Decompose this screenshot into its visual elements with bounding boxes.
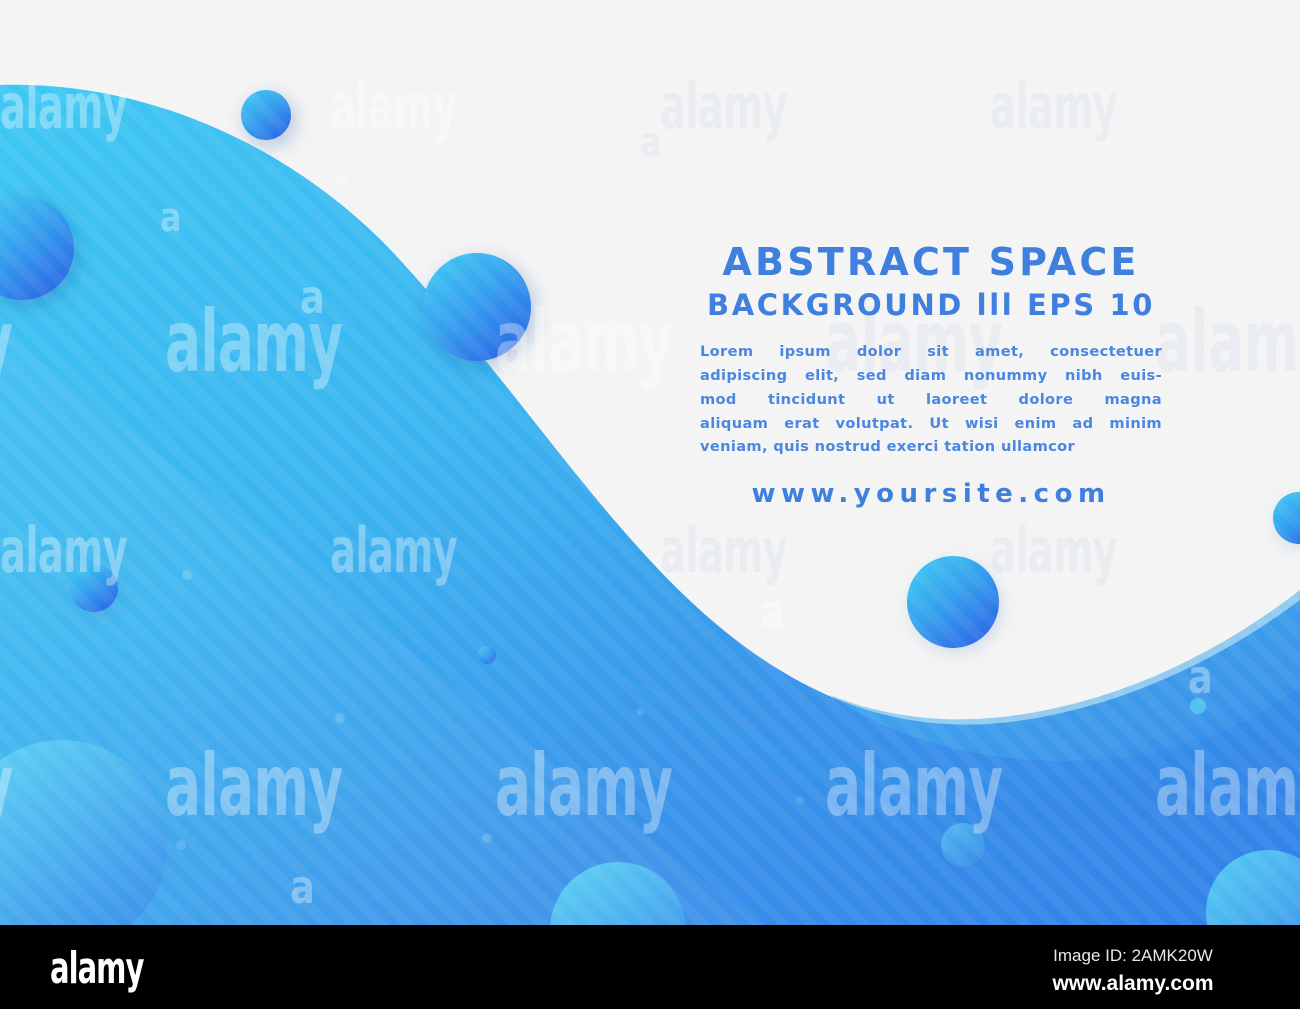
alamy-footer-bar: alamy Image ID: 2AMK20W www.alamy.com <box>0 925 1300 1009</box>
dot-accent-4 <box>636 708 644 716</box>
dot-accent-2 <box>335 713 345 723</box>
body-line: aliquam erat volutpat. Ut wisi enim ad m… <box>700 412 1162 436</box>
alamy-site-url: www.alamy.com <box>1008 970 1258 997</box>
footer-meta: Image ID: 2AMK20W www.alamy.com <box>1008 945 1258 997</box>
sphere-upper-large <box>423 253 531 361</box>
text-content-block: ABSTRACT SPACE BACKGROUND lll EPS 10 Lor… <box>700 243 1162 509</box>
sphere-bottom-right-small <box>941 823 985 867</box>
dot-accent-6 <box>176 840 186 850</box>
sphere-tiny-lower-right <box>1190 698 1206 714</box>
dot-accent-1 <box>182 570 192 580</box>
body-line: veniam, quis nostrud exerci tation ullam… <box>700 435 1162 459</box>
dot-accent-3 <box>482 833 492 843</box>
sphere-tiny-center <box>478 646 496 664</box>
headline-secondary: BACKGROUND lll EPS 10 <box>700 287 1162 323</box>
artwork-canvas: alamyalamyalamyalamyalamyalamyalamyalamy… <box>0 0 1300 925</box>
sphere-top-small <box>241 90 291 140</box>
dot-accent-7 <box>336 174 348 186</box>
headline-primary: ABSTRACT SPACE <box>700 243 1162 281</box>
dot-accent-5 <box>796 796 804 804</box>
sphere-right-large <box>907 556 999 648</box>
alamy-logo: alamy <box>50 947 143 991</box>
website-url: www.yoursite.com <box>700 479 1162 509</box>
image-id-label: Image ID: 2AMK20W <box>1008 945 1258 968</box>
body-line: mod tincidunt ut laoreet dolore magna <box>700 388 1162 412</box>
sphere-left-mid-small <box>70 564 118 612</box>
body-paragraph: Lorem ipsum dolor sit amet, consectetuer… <box>700 340 1162 459</box>
body-line: adipiscing elit, sed diam nonummy nibh e… <box>700 364 1162 388</box>
body-line: Lorem ipsum dolor sit amet, consectetuer <box>700 340 1162 364</box>
screenshot-root: alamyalamyalamyalamyalamyalamyalamyalamy… <box>0 0 1300 1009</box>
